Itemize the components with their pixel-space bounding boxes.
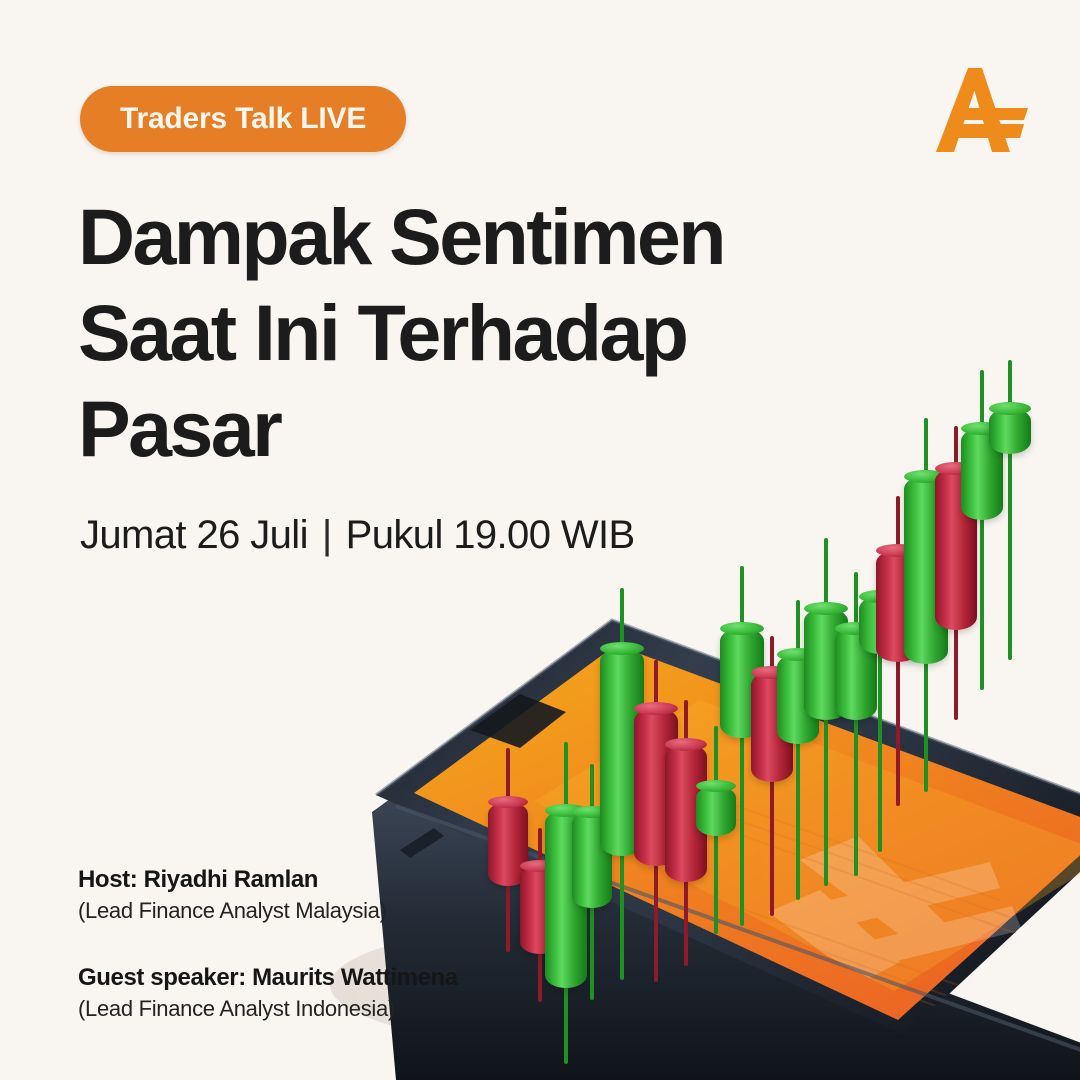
candle-body bbox=[876, 550, 920, 662]
candle-top-cap bbox=[600, 642, 644, 655]
candle-wick bbox=[954, 426, 958, 720]
candle-top-cap bbox=[634, 702, 678, 715]
candlestick-14-bullish bbox=[859, 560, 901, 852]
schedule-separator: | bbox=[322, 513, 332, 558]
phone-side-button bbox=[400, 828, 444, 858]
candle-body bbox=[961, 428, 1003, 520]
candle-top-cap bbox=[720, 622, 764, 635]
credits-block: Host: Riyadhi Ramlan (Lead Finance Analy… bbox=[78, 866, 458, 1022]
candle-top-cap bbox=[777, 648, 819, 661]
page-title: Dampak Sentimen Saat Ini Terhadap Pasar bbox=[78, 198, 778, 469]
headline-line-1: Dampak Sentimen bbox=[78, 198, 778, 276]
candlestick-17-bearish bbox=[935, 426, 977, 720]
schedule-line: Jumat 26 Juli | Pukul 19.00 WIB bbox=[80, 513, 635, 558]
candle-top-cap bbox=[859, 590, 901, 603]
credits-spacer bbox=[78, 924, 458, 964]
candlestick-3-bullish bbox=[545, 742, 587, 1064]
candle-wick bbox=[770, 636, 774, 916]
candle-wick bbox=[714, 726, 718, 934]
headline-line-3: Pasar bbox=[78, 390, 778, 468]
candle-body bbox=[696, 786, 736, 836]
ascendex-a-logo-icon bbox=[924, 62, 1032, 158]
candlestick-9-bullish bbox=[720, 566, 764, 926]
candle-wick bbox=[684, 700, 688, 966]
candle-top-cap bbox=[835, 622, 877, 635]
schedule-date: Jumat 26 Juli bbox=[80, 513, 308, 558]
candlestick-11-bullish bbox=[777, 600, 819, 900]
candle-body bbox=[859, 596, 901, 654]
candle-wick bbox=[620, 588, 624, 980]
candle-wick bbox=[538, 828, 542, 1002]
candle-body bbox=[989, 408, 1031, 454]
candlestick-15-bearish bbox=[876, 496, 920, 806]
guest-affiliation: (Lead Finance Analyst Indonesia) bbox=[78, 996, 458, 1022]
candlestick-1-bearish bbox=[488, 748, 528, 952]
candle-top-cap bbox=[696, 780, 736, 792]
candlestick-13-bullish bbox=[835, 572, 877, 876]
candle-wick bbox=[980, 370, 984, 690]
candle-body bbox=[488, 802, 528, 886]
candle-body bbox=[572, 812, 612, 908]
candle-body bbox=[904, 476, 948, 664]
traders-talk-live-badge[interactable]: Traders Talk LIVE bbox=[80, 86, 406, 152]
candlestick-12-bullish bbox=[804, 538, 848, 886]
badge-label: Traders Talk LIVE bbox=[120, 102, 366, 136]
candle-wick bbox=[506, 748, 510, 952]
candle-top-cap bbox=[665, 738, 707, 751]
candle-top-cap bbox=[572, 806, 612, 818]
candle-body bbox=[665, 744, 707, 882]
candle-wick bbox=[654, 660, 658, 982]
candle-wick bbox=[824, 538, 828, 886]
poster-canvas: Traders Talk LIVE Dampak Sentimen Saat I… bbox=[0, 0, 1080, 1080]
candle-body bbox=[751, 672, 793, 782]
host-name: Host: Riyadhi Ramlan bbox=[78, 866, 458, 894]
brand-logo bbox=[924, 62, 1032, 158]
candle-wick bbox=[878, 560, 882, 852]
schedule-time: Pukul 19.00 WIB bbox=[346, 513, 635, 558]
candle-body bbox=[777, 654, 819, 744]
candle-body bbox=[520, 866, 560, 954]
candle-top-cap bbox=[961, 422, 1003, 435]
candlestick-2-bearish bbox=[520, 828, 560, 1002]
candlestick-10-bearish bbox=[751, 636, 793, 916]
candle-body bbox=[804, 608, 848, 720]
candle-body bbox=[600, 648, 644, 856]
candle-wick bbox=[854, 572, 858, 876]
candlestick-19-bullish bbox=[989, 360, 1031, 660]
candle-wick bbox=[924, 418, 928, 792]
candle-top-cap bbox=[876, 544, 920, 557]
candle-top-cap bbox=[904, 470, 948, 483]
candle-wick bbox=[1008, 360, 1012, 660]
candle-top-cap bbox=[545, 804, 587, 817]
candle-wick bbox=[796, 600, 800, 900]
candle-top-cap bbox=[804, 602, 848, 615]
candle-body bbox=[634, 708, 678, 866]
candle-top-cap bbox=[935, 462, 977, 475]
candlestick-6-bearish bbox=[634, 660, 678, 982]
brand-a-watermark-icon bbox=[768, 836, 1022, 982]
candle-top-cap bbox=[488, 796, 528, 808]
candle-wick bbox=[590, 764, 594, 1000]
candle-body bbox=[835, 628, 877, 720]
candlestick-5-bullish bbox=[600, 588, 644, 980]
candle-body bbox=[720, 628, 764, 738]
candle-body bbox=[935, 468, 977, 630]
phone-notch bbox=[470, 694, 566, 748]
candle-top-cap bbox=[989, 402, 1031, 415]
candle-wick bbox=[564, 742, 568, 1064]
headline-line-2: Saat Ini Terhadap bbox=[78, 294, 778, 372]
candle-top-cap bbox=[751, 666, 793, 679]
candlestick-8-bullish bbox=[696, 726, 736, 934]
host-affiliation: (Lead Finance Analyst Malaysia) bbox=[78, 898, 458, 924]
candle-top-cap bbox=[520, 860, 560, 872]
candlestick-4-bullish bbox=[572, 764, 612, 1000]
candlestick-18-bullish bbox=[961, 370, 1003, 690]
phone-body bbox=[372, 620, 1080, 1080]
candlestick-7-bearish bbox=[665, 700, 707, 966]
guest-name: Guest speaker: Maurits Wattimena bbox=[78, 964, 458, 992]
candlestick-16-bullish bbox=[904, 418, 948, 792]
candle-wick bbox=[896, 496, 900, 806]
candle-wick bbox=[740, 566, 744, 926]
candle-body bbox=[545, 810, 587, 988]
